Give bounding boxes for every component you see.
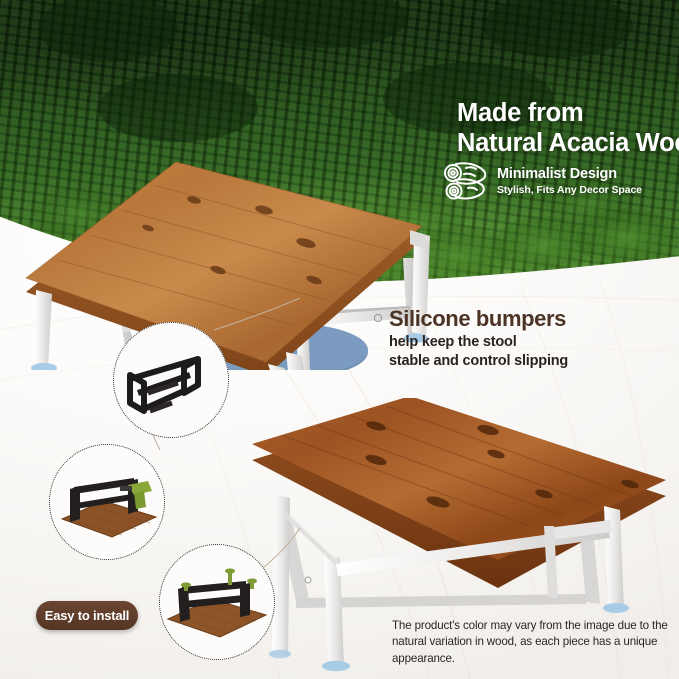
inset-frame-only-image bbox=[114, 323, 228, 437]
feature-title: Minimalist Design bbox=[497, 166, 642, 183]
silicone-bumpers-callout: Silicone bumpers help keep the stool sta… bbox=[389, 307, 679, 370]
hero-line-1: Made from bbox=[457, 99, 679, 129]
inset-frame-only[interactable] bbox=[113, 322, 229, 438]
bumpers-line-2: stable and control slipping bbox=[389, 352, 679, 371]
inset-assembly-screws-image bbox=[160, 545, 274, 659]
bumpers-line-1: help keep the stool bbox=[389, 333, 679, 352]
inset-assembly-screws[interactable] bbox=[159, 544, 275, 660]
feature-text-block: Minimalist Design Stylish, Fits Any Deco… bbox=[497, 166, 642, 196]
feature-minimalist-design: Minimalist Design Stylish, Fits Any Deco… bbox=[442, 158, 679, 204]
inset-assembly-drill-image bbox=[50, 445, 164, 559]
feature-subtitle: Stylish, Fits Any Decor Space bbox=[497, 184, 642, 196]
inset-assembly-drill[interactable] bbox=[49, 444, 165, 560]
hero-line-2: Natural Acacia Wood bbox=[457, 129, 679, 159]
wood-log-icon bbox=[442, 158, 488, 204]
bumpers-title: Silicone bumpers bbox=[389, 307, 679, 330]
product-disclaimer: The product's color may vary from the im… bbox=[392, 618, 670, 667]
hero-headline: Made from Natural Acacia Wood bbox=[457, 99, 679, 158]
product-marketing-image: Made from Natural Acacia Wood Minimalist… bbox=[0, 0, 679, 679]
easy-to-install-badge[interactable]: Easy to install bbox=[36, 601, 138, 630]
